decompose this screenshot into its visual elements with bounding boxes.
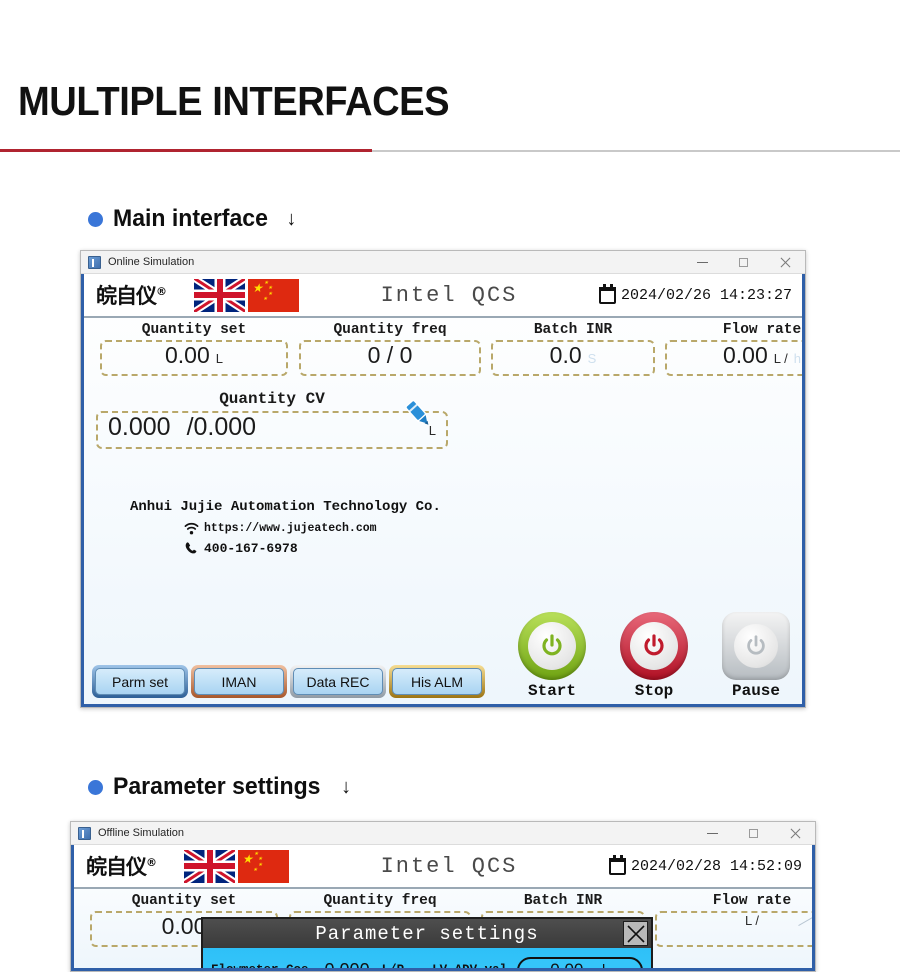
uk-flag-icon[interactable] bbox=[184, 850, 235, 883]
field-unit: L / bbox=[774, 351, 788, 366]
app-window-icon bbox=[78, 827, 91, 840]
field-quantity-set[interactable]: Quantity set 0.00 L bbox=[96, 318, 292, 376]
lv-adv-val-label: LV ADV val bbox=[432, 963, 507, 971]
calendar-icon bbox=[599, 287, 616, 304]
section-label: Parameter settings bbox=[113, 773, 320, 801]
field-box[interactable]: 0.0 S bbox=[491, 340, 655, 376]
field-box[interactable]: 0.00 L bbox=[100, 340, 288, 376]
datetime-display: 2024/02/28 14:52:09 bbox=[609, 858, 802, 875]
close-button[interactable] bbox=[764, 251, 805, 274]
field-label: Quantity CV bbox=[96, 390, 448, 408]
hmi-screen: 皖自仪® ★★★★★ Intel QCS 2024/02/28 14:52:09… bbox=[71, 845, 815, 971]
button-label: IMAN bbox=[194, 668, 284, 695]
registered-mark: ® bbox=[146, 856, 156, 869]
field-value: 0.00 bbox=[723, 342, 768, 369]
datetime-display: 2024/02/26 14:23:27 bbox=[599, 287, 792, 304]
divider-red-accent bbox=[0, 149, 372, 152]
maximize-button[interactable] bbox=[723, 251, 764, 274]
logo-text: 皖自仪 bbox=[96, 284, 156, 308]
company-website: https://www.jujeatech.com bbox=[204, 522, 377, 535]
field-label: Quantity freq bbox=[323, 893, 436, 909]
section-caption-main-interface: Main interface ↓ bbox=[88, 205, 296, 233]
window-titlebar: Online Simulation bbox=[81, 251, 805, 274]
down-arrow-icon: ↓ bbox=[341, 776, 351, 799]
bullet-dot-icon bbox=[88, 780, 103, 795]
dialog-close-button[interactable] bbox=[623, 921, 648, 946]
field-value: 0 / 0 bbox=[368, 342, 413, 369]
his-alm-button[interactable]: His ALM bbox=[389, 665, 485, 698]
field-label: Batch INR bbox=[534, 322, 612, 338]
brand-title: Intel QCS bbox=[289, 854, 609, 879]
control-buttons: Start Stop bbox=[518, 612, 790, 700]
calendar-icon bbox=[609, 858, 626, 875]
parameter-settings-dialog: Parameter settings Flowmeter Coe 0.000 L… bbox=[201, 917, 653, 971]
window-controls bbox=[682, 251, 805, 274]
dialog-titlebar: Parameter settings bbox=[203, 919, 651, 948]
iman-button[interactable]: IMAN bbox=[191, 665, 287, 698]
china-flag-icon[interactable]: ★★★★★ bbox=[238, 850, 289, 883]
parameter-settings-window: Offline Simulation 皖自仪® ★★★★★ Intel QCS bbox=[70, 821, 816, 972]
company-phone-row: 400-167-6978 bbox=[184, 541, 441, 556]
language-flags: ★★★★★ bbox=[184, 850, 289, 883]
readout-row: Quantity set 0.00 L Quantity freq 0 / 0 … bbox=[84, 318, 802, 384]
hmi-screen: 皖自仪® ★★★★★ Intel QCS 2024/02/26 14:23:27… bbox=[81, 274, 805, 707]
field-quantity-freq[interactable]: Quantity freq 0 / 0 bbox=[296, 318, 484, 376]
hmi-header: 皖自仪® ★★★★★ Intel QCS 2024/02/26 14:23:27 bbox=[84, 274, 802, 318]
field-label: Quantity freq bbox=[333, 322, 446, 338]
app-window-icon bbox=[88, 256, 101, 269]
telephone-icon bbox=[184, 541, 199, 556]
section-caption-parameter-settings: Parameter settings ↓ bbox=[88, 773, 351, 801]
company-phone: 400-167-6978 bbox=[204, 541, 298, 556]
company-logo: 皖自仪® bbox=[96, 280, 166, 310]
hmi-header: 皖自仪® ★★★★★ Intel QCS 2024/02/28 14:52:09 bbox=[74, 845, 812, 889]
field-batch-inr[interactable]: Batch INR 0.0 S bbox=[488, 318, 658, 376]
datetime-text: 2024/02/26 14:23:27 bbox=[621, 287, 792, 304]
field-label: Quantity set bbox=[132, 893, 236, 909]
down-arrow-icon: ↓ bbox=[286, 208, 296, 231]
data-rec-button[interactable]: Data REC bbox=[290, 665, 386, 698]
dialog-body: Flowmeter Coe 0.000 L/P LV ADV val 0.00 … bbox=[203, 948, 651, 971]
page-title: MULTIPLE INTERFACES bbox=[18, 78, 449, 125]
power-icon bbox=[539, 633, 565, 659]
cv-value-target: /0.000 bbox=[187, 413, 257, 442]
field-flow-rate[interactable]: Flow rate L / bbox=[652, 889, 815, 947]
button-label: Start bbox=[528, 682, 576, 700]
title-divider bbox=[0, 149, 900, 153]
bullet-dot-icon bbox=[88, 212, 103, 227]
close-button[interactable] bbox=[774, 822, 815, 845]
main-interface-window: Online Simulation 皖自仪® ★★★★★ Intel QCS bbox=[80, 250, 806, 708]
field-quantity-cv[interactable]: Quantity CV 0.000 /0.000 L bbox=[96, 390, 448, 449]
start-button[interactable]: Start bbox=[518, 612, 586, 700]
minimize-button[interactable] bbox=[692, 822, 733, 845]
parm-set-button[interactable]: Parm set bbox=[92, 665, 188, 698]
lv-adv-val-value: 0.00 bbox=[550, 960, 583, 971]
power-icon bbox=[641, 633, 667, 659]
field-value: 0.0 bbox=[550, 342, 582, 369]
field-label: Flow rate bbox=[723, 322, 801, 338]
pencil-edit-icon[interactable] bbox=[402, 398, 436, 432]
field-box[interactable]: 0 / 0 bbox=[299, 340, 481, 376]
button-label: Pause bbox=[732, 682, 780, 700]
field-box[interactable]: 0.000 /0.000 L bbox=[96, 411, 448, 449]
button-label: Data REC bbox=[293, 668, 383, 695]
window-controls bbox=[692, 822, 815, 845]
button-label: His ALM bbox=[392, 668, 482, 695]
field-box[interactable]: L / bbox=[655, 911, 815, 947]
flowmeter-coe-value[interactable]: 0.000 bbox=[325, 960, 370, 972]
datetime-text: 2024/02/28 14:52:09 bbox=[631, 858, 802, 875]
close-icon bbox=[626, 924, 646, 944]
power-icon bbox=[744, 634, 768, 658]
field-unit: S bbox=[588, 351, 597, 366]
field-value: 0.00 bbox=[165, 342, 210, 369]
window-titlebar: Offline Simulation bbox=[71, 822, 815, 845]
maximize-button[interactable] bbox=[733, 822, 774, 845]
field-label: Batch INR bbox=[524, 893, 602, 909]
window-title: Offline Simulation bbox=[98, 827, 184, 839]
uk-flag-icon[interactable] bbox=[194, 279, 245, 312]
button-label: Stop bbox=[635, 682, 673, 700]
pause-button[interactable]: Pause bbox=[722, 612, 790, 700]
function-button-bar: Parm set IMAN Data REC His ALM bbox=[92, 665, 485, 698]
registered-mark: ® bbox=[156, 285, 166, 298]
company-info: Anhui Jujie Automation Technology Co. ht… bbox=[130, 499, 441, 556]
section-label: Main interface bbox=[113, 205, 268, 233]
field-value: 0.00 bbox=[162, 913, 207, 940]
stop-button[interactable]: Stop bbox=[620, 612, 688, 700]
company-logo: 皖自仪® bbox=[86, 851, 156, 881]
field-unit-faded: h bbox=[794, 351, 801, 366]
button-label: Parm set bbox=[95, 668, 185, 695]
field-box[interactable]: 0.00 L / h bbox=[665, 340, 805, 376]
field-unit: L / bbox=[745, 913, 759, 928]
language-flags: ★★★★★ bbox=[194, 279, 299, 312]
logo-text: 皖自仪 bbox=[86, 855, 146, 879]
window-title: Online Simulation bbox=[108, 256, 194, 268]
dialog-row: Flowmeter Coe 0.000 L/P LV ADV val 0.00 … bbox=[211, 954, 643, 971]
lv-adv-val-unit: L bbox=[601, 962, 609, 971]
lv-adv-val-input[interactable]: 0.00 L bbox=[517, 957, 643, 972]
company-website-row: https://www.jujeatech.com bbox=[184, 521, 441, 536]
field-unit: L bbox=[216, 351, 223, 366]
flowmeter-coe-label: Flowmeter Coe bbox=[211, 963, 309, 971]
brand-title: Intel QCS bbox=[299, 283, 599, 308]
dialog-title: Parameter settings bbox=[315, 923, 538, 945]
field-label: Quantity set bbox=[142, 322, 246, 338]
flowmeter-coe-unit: L/P bbox=[382, 963, 405, 971]
cv-value-actual: 0.000 bbox=[108, 413, 171, 442]
china-flag-icon[interactable]: ★★★★★ bbox=[248, 279, 299, 312]
minimize-button[interactable] bbox=[682, 251, 723, 274]
field-label: Flow rate bbox=[713, 893, 791, 909]
field-flow-rate[interactable]: Flow rate 0.00 L / h bbox=[662, 318, 805, 376]
wifi-icon bbox=[184, 521, 199, 536]
company-name: Anhui Jujie Automation Technology Co. bbox=[130, 499, 441, 515]
